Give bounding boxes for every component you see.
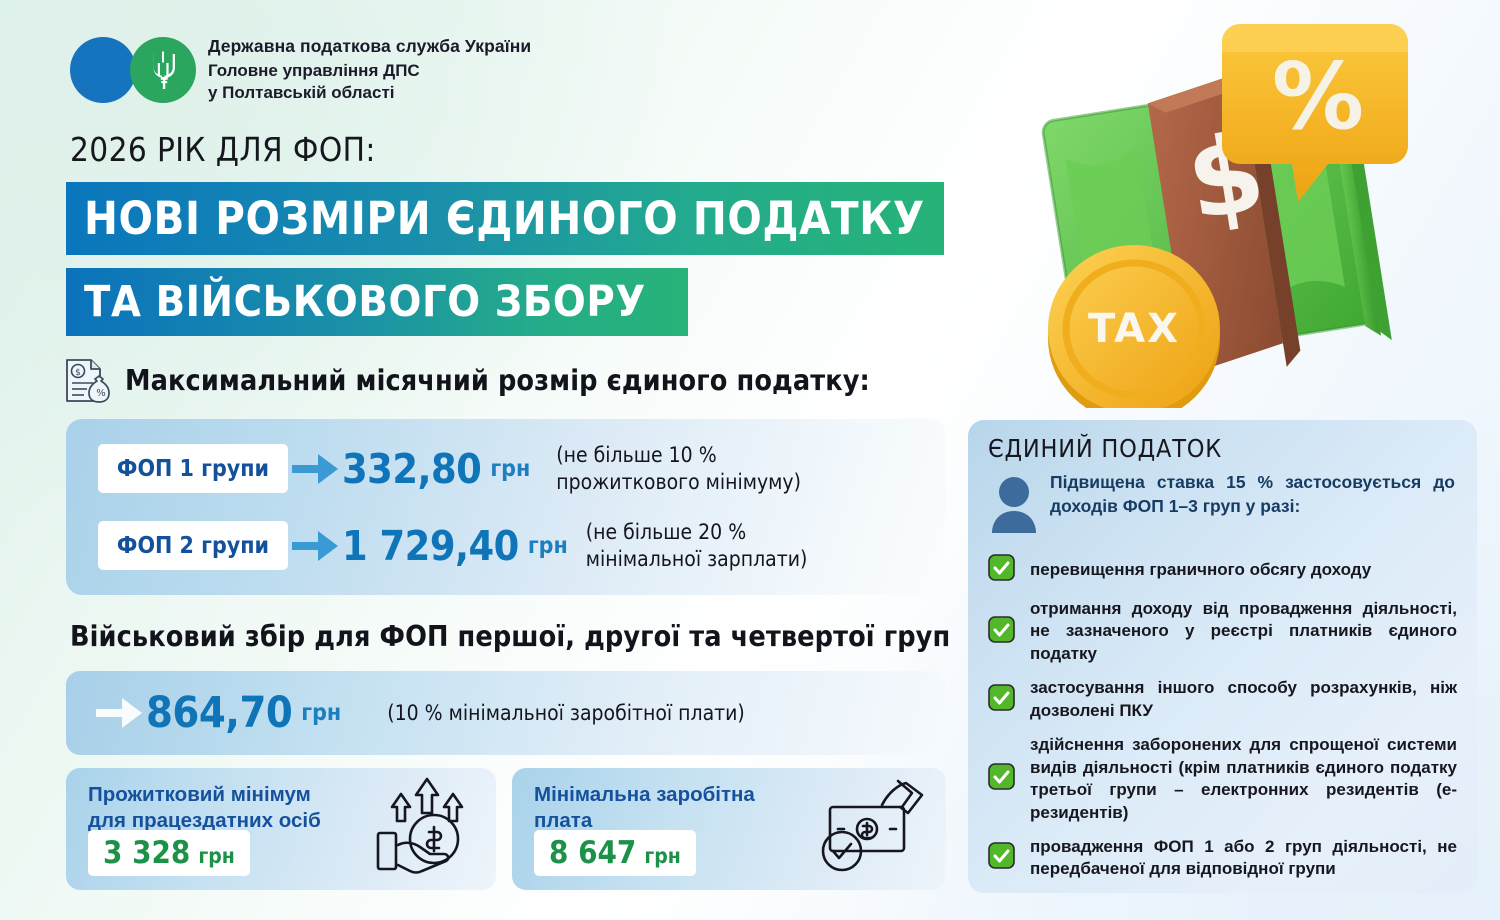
side-panel-title: ЄДИНИЙ ПОДАТОК (988, 434, 1457, 463)
checklist-item-text: здійснення заборонених для спрощеної сис… (1030, 734, 1457, 824)
group-2-currency: грн (528, 533, 568, 559)
logo-circles (70, 37, 196, 103)
group-1-note-line-2: прожиткового мінімуму) (556, 469, 801, 496)
subsistence-minimum-currency: грн (198, 844, 234, 868)
check-icon (988, 684, 1018, 716)
organization-name: Державна податкова служба України Головн… (208, 36, 531, 105)
military-levy-note: (10 % мінімальної заробітної плати) (387, 701, 745, 725)
tax-money-illustration: $ TAX % (1000, 18, 1410, 408)
group-1-amount: 332,80 (342, 445, 481, 493)
group-2-amount: 1 729,40 (342, 522, 519, 570)
subsistence-minimum-label: Прожитковий мінімум для працездатних осі… (88, 782, 321, 834)
subsistence-label-line-1: Прожитковий мінімум (88, 782, 321, 808)
minimum-wage-value: 8 647 (549, 835, 636, 871)
group-1-chip: ФОП 1 групи (98, 444, 288, 493)
subsistence-minimum-card: Прожитковий мінімум для працездатних осі… (66, 768, 496, 890)
military-levy-heading-text: Військовий збір для ФОП першої, другої т… (70, 620, 950, 653)
checklist-item-text: застосування іншого способу розрахунків,… (1030, 677, 1457, 722)
checklist-item-text: провадження ФОП 1 або 2 груп діяльності,… (1030, 836, 1457, 881)
svg-text:%: % (1272, 43, 1364, 150)
minimum-wage-label-line-1: Мінімальна заробітна (534, 782, 755, 808)
subsistence-minimum-value: 3 328 (103, 835, 190, 871)
checklist-item-text: отримання доходу від провадження діяльно… (1030, 598, 1457, 665)
document-money-bag-icon: $ % (62, 355, 112, 405)
logo-blue-circle (70, 37, 136, 103)
person-avatar-icon (988, 471, 1044, 538)
checklist-item-text: перевищення граничного обсягу доходу (1030, 559, 1371, 581)
group-1-note-line-1: (не більше 10 % (556, 442, 801, 469)
org-line-1: Державна податкова служба України (208, 36, 531, 57)
checklist-item: перевищення граничного обсягу доходу (988, 554, 1457, 586)
group-1-note: (не більше 10 % прожиткового мінімуму) (556, 442, 801, 496)
arrow-right-icon (92, 698, 146, 728)
organization-logo: Державна податкова служба України Головн… (70, 36, 531, 105)
checklist-item: здійснення заборонених для спрощеної сис… (988, 734, 1457, 824)
military-levy-heading: Військовий збір для ФОП першої, другої т… (70, 620, 950, 653)
single-tax-heading: $ % Максимальний місячний розмір єдиного… (62, 355, 870, 405)
side-panel-intro-text: Підвищена ставка 15 % застосовується до … (1050, 471, 1457, 519)
org-line-2: Головне управління ДПС (208, 60, 531, 82)
group-2-chip: ФОП 2 групи (98, 521, 288, 570)
svg-text:$: $ (75, 368, 81, 378)
group-2-note: (не більше 20 % мінімальної зарплати) (586, 519, 808, 573)
single-tax-row-2: ФОП 2 групи 1 729,40 грн (не більше 20 %… (98, 519, 807, 573)
minimum-wage-value-box: 8 647 грн (534, 830, 696, 876)
checklist-item: отримання доходу від провадження діяльно… (988, 598, 1457, 665)
arrow-right-icon (288, 454, 342, 484)
military-levy-row: 864,70 грн (10 % мінімальної заробітної … (92, 671, 745, 755)
headline-band-1: НОВІ РОЗМІРИ ЄДИНОГО ПОДАТКУ (66, 182, 944, 255)
group-2-note-line-1: (не більше 20 % (586, 519, 808, 546)
minimum-wage-card: Мінімальна заробітна плата 8 647 грн (512, 768, 946, 890)
group-2-note-line-2: мінімальної зарплати) (586, 546, 808, 573)
headline-kicker: 2026 РІК ДЛЯ ФОП: (70, 130, 376, 169)
single-tax-side-panel: ЄДИНИЙ ПОДАТОК Підвищена ставка 15 % зас… (968, 420, 1477, 893)
arrow-right-icon (288, 531, 342, 561)
hand-banknote-check-icon (812, 771, 930, 880)
svg-text:TAX: TAX (1088, 306, 1180, 352)
org-line-3: у Полтавській області (208, 82, 531, 104)
check-icon (988, 554, 1018, 586)
single-tax-row-1: ФОП 1 групи 332,80 грн (не більше 10 % п… (98, 442, 801, 496)
side-panel-checklist: перевищення граничного обсягу доходу отр… (988, 554, 1457, 881)
checklist-item: застосування іншого способу розрахунків,… (988, 677, 1457, 722)
checklist-item: провадження ФОП 1 або 2 груп діяльності,… (988, 836, 1457, 881)
subsistence-minimum-value-box: 3 328 грн (88, 830, 250, 876)
single-tax-panel: ФОП 1 групи 332,80 грн (не більше 10 % п… (66, 419, 946, 595)
hand-coin-arrows-icon (370, 771, 480, 880)
minimum-wage-currency: грн (644, 844, 680, 868)
military-levy-currency: грн (301, 700, 341, 726)
military-levy-amount: 864,70 (146, 688, 292, 738)
military-levy-panel: 864,70 грн (10 % мінімальної заробітної … (66, 671, 946, 755)
check-icon (988, 616, 1018, 648)
check-icon (988, 842, 1018, 874)
trident-emblem-icon (150, 51, 176, 89)
minimum-wage-label: Мінімальна заробітна плата (534, 782, 755, 834)
svg-text:%: % (96, 388, 106, 399)
single-tax-heading-text: Максимальний місячний розмір єдиного под… (125, 364, 870, 397)
headline-band-2: ТА ВІЙСЬКОВОГО ЗБОРУ (66, 268, 688, 336)
check-icon (988, 763, 1018, 795)
side-panel-intro: Підвищена ставка 15 % застосовується до … (988, 471, 1457, 538)
group-1-currency: грн (490, 456, 530, 482)
